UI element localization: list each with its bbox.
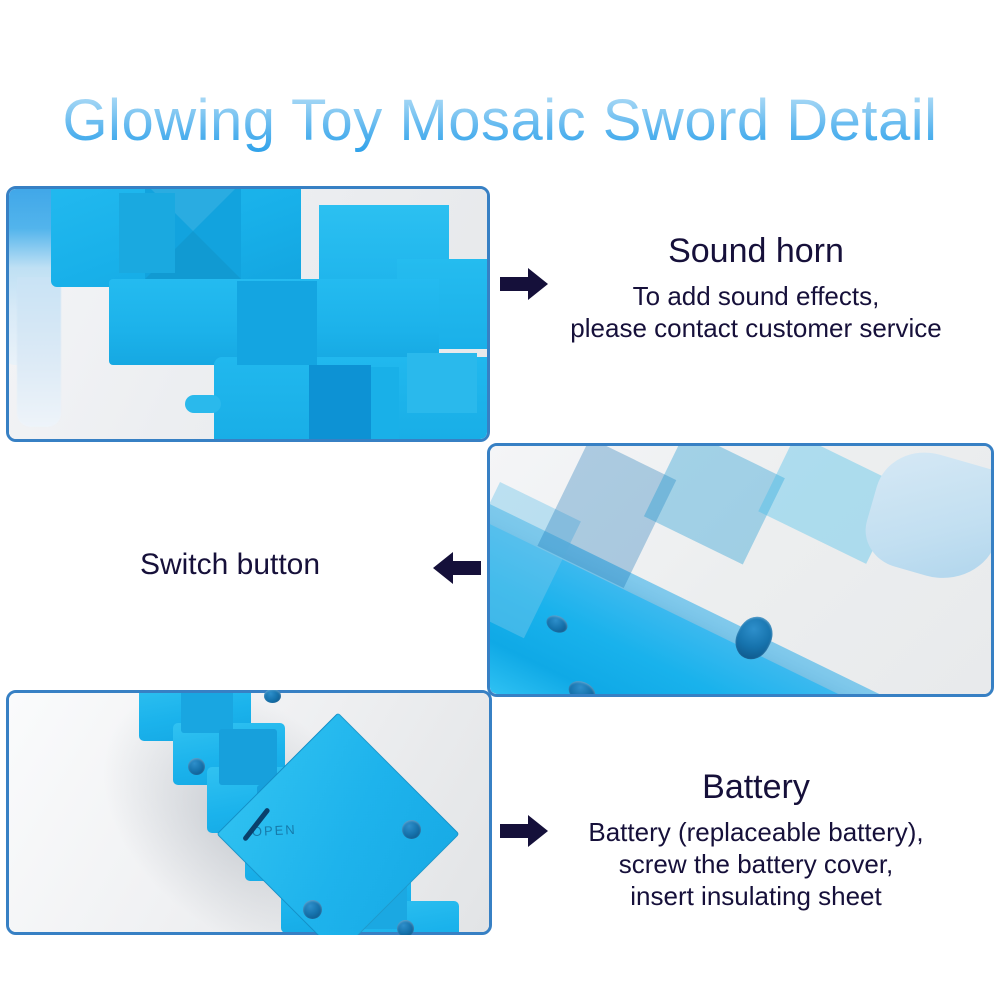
- battery-photo-panel: [6, 690, 492, 935]
- callout-heading: Switch button: [40, 548, 420, 582]
- mosaic-square-e: [407, 353, 477, 413]
- mosaic-square-a: [237, 281, 317, 365]
- callout-battery: Battery Battery (replaceable battery), s…: [520, 768, 992, 912]
- mosaic-square-c: [309, 365, 371, 439]
- battery-photo: [9, 693, 489, 932]
- callout-sound-horn: Sound horn To add sound effects, please …: [520, 232, 992, 345]
- sword-translucent-guard-lower: [17, 277, 61, 427]
- callout-line: insert insulating sheet: [520, 881, 992, 913]
- page-title-container: Glowing Toy Mosaic Sword Detail: [0, 52, 1000, 191]
- infographic-page: Glowing Toy Mosaic Sword Detail: [0, 0, 1000, 1000]
- mosaic-square: [219, 729, 277, 785]
- callout-line: please contact customer service: [520, 313, 992, 345]
- mosaic-square: [257, 785, 313, 839]
- sword-notch-nub: [185, 395, 221, 413]
- callout-line: Battery (replaceable battery),: [520, 817, 992, 849]
- arrow-left-icon: [433, 552, 481, 584]
- sound-horn-photo: [9, 189, 487, 439]
- callout-heading: Battery: [520, 768, 992, 807]
- mosaic-square: [347, 871, 407, 929]
- callout-heading: Sound horn: [520, 232, 992, 271]
- sound-horn-photo-panel: [6, 186, 490, 442]
- callout-switch-button: Switch button: [40, 548, 420, 582]
- page-title: Glowing Toy Mosaic Sword Detail: [62, 91, 937, 152]
- switch-button-photo-panel: [487, 443, 994, 697]
- mosaic-square-d: [119, 193, 175, 273]
- callout-line: To add sound effects,: [520, 281, 992, 313]
- mosaic-square: [181, 693, 233, 733]
- callout-line: screw the battery cover,: [520, 849, 992, 881]
- switch-button-photo: [490, 446, 991, 694]
